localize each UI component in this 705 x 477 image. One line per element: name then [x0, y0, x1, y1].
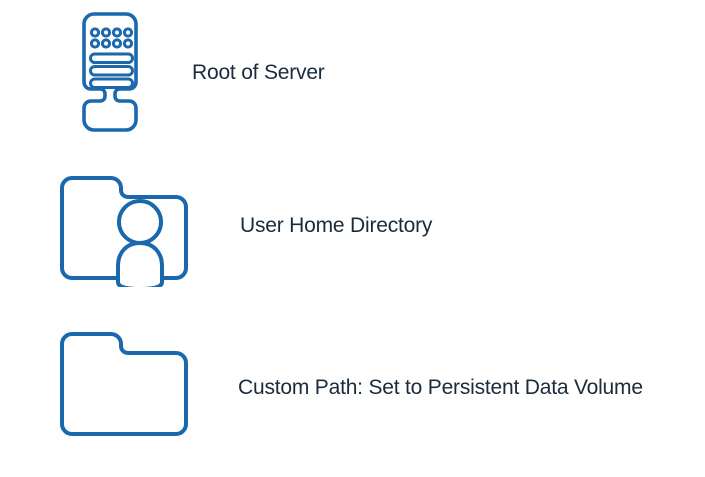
legend-label-home: User Home Directory	[240, 215, 432, 236]
diagram-canvas: Root of Server User Home Directory Custo…	[0, 0, 705, 477]
legend-label-server: Root of Server	[192, 62, 325, 83]
folder-user-icon	[58, 172, 198, 292]
legend-row-custom: Custom Path: Set to Persistent Data Volu…	[0, 310, 705, 477]
folder-icon	[58, 328, 198, 443]
legend-row-server: Root of Server	[0, 0, 705, 150]
server-icon	[76, 12, 144, 137]
legend-label-custom: Custom Path: Set to Persistent Data Volu…	[238, 377, 643, 398]
legend-row-home: User Home Directory	[0, 150, 705, 310]
